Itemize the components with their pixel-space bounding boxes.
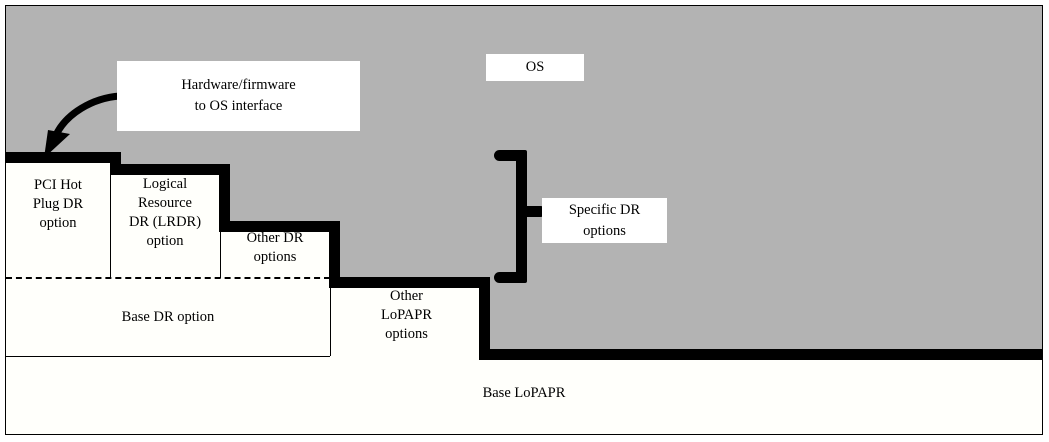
diagram-canvas: PCI Hot Plug DR option Logical Resource … xyxy=(0,0,1049,442)
interface-line-h3 xyxy=(219,221,337,232)
hardware-firmware-interface-text: Hardware/firmware to OS interface xyxy=(181,75,295,117)
hardware-firmware-interface-callout: Hardware/firmware to OS interface xyxy=(117,61,360,131)
specific-dr-options-callout: Specific DR options xyxy=(542,198,667,243)
base-lopapr-box: Base LoPAPR xyxy=(6,356,1042,434)
base-dr-option-label: Base DR option xyxy=(6,308,330,327)
os-gray-region-segment-4 xyxy=(330,6,483,278)
base-lopapr-label: Base LoPAPR xyxy=(6,384,1042,403)
other-lopapr-options-box: Other LoPAPR options xyxy=(330,278,483,356)
interface-line-h5 xyxy=(479,349,1042,360)
interface-line-h2 xyxy=(110,164,227,175)
interface-line-v3 xyxy=(329,221,340,283)
interface-line-v2 xyxy=(219,164,230,226)
interface-line-h4 xyxy=(329,277,490,288)
other-dr-options-label: Other DR options xyxy=(220,229,330,267)
base-dr-bottom-rule xyxy=(6,356,330,357)
os-gray-region-segment-1 xyxy=(6,6,110,153)
dashed-line-base-dr-divider xyxy=(6,277,330,279)
specific-dr-options-text: Specific DR options xyxy=(569,200,640,242)
other-lopapr-options-label: Other LoPAPR options xyxy=(331,287,482,344)
os-label-box: OS xyxy=(486,54,584,81)
os-label-text: OS xyxy=(526,57,545,78)
brace-bottom-arm xyxy=(494,272,524,283)
interface-line-h1 xyxy=(5,152,117,163)
logical-resource-dr-option-box: Logical Resource DR (LRDR) option xyxy=(110,165,220,278)
pci-hot-plug-dr-option-label: PCI Hot Plug DR option xyxy=(6,176,110,233)
interface-line-v4 xyxy=(479,277,490,360)
brace-top-arm xyxy=(494,150,524,161)
pci-hot-plug-dr-option-box: PCI Hot Plug DR option xyxy=(6,153,110,278)
divider-pci-lrdr xyxy=(110,160,111,278)
base-dr-option-box: Base DR option xyxy=(6,278,330,356)
logical-resource-dr-option-label: Logical Resource DR (LRDR) option xyxy=(110,175,220,251)
